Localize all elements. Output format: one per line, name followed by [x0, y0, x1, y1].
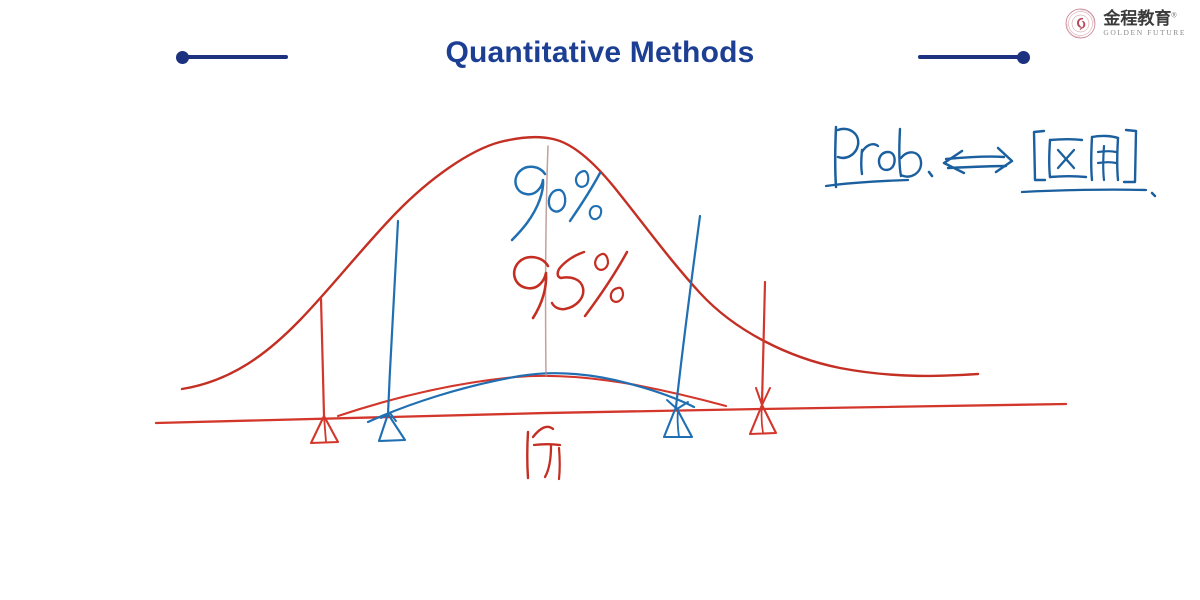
center-mean-line: [546, 146, 548, 376]
flat-arc-blue: [368, 373, 694, 422]
baseline-axis: [156, 404, 1066, 423]
annotation-below-axis-char: [527, 427, 560, 479]
drawing-svg: [0, 0, 1200, 600]
vline-red-left: [311, 299, 338, 443]
annotation-90-percent: [512, 167, 601, 240]
vline-blue-right: [664, 216, 700, 437]
annotation-prob-interval: [826, 127, 1155, 196]
whiteboard-drawing: [0, 0, 1200, 600]
bell-curve: [182, 137, 978, 389]
vline-red-right: [750, 282, 776, 434]
slide-canvas: Quantitative Methods 金程教育® GOLDEN FUTURE: [0, 0, 1200, 600]
annotation-95-percent: [514, 252, 627, 318]
